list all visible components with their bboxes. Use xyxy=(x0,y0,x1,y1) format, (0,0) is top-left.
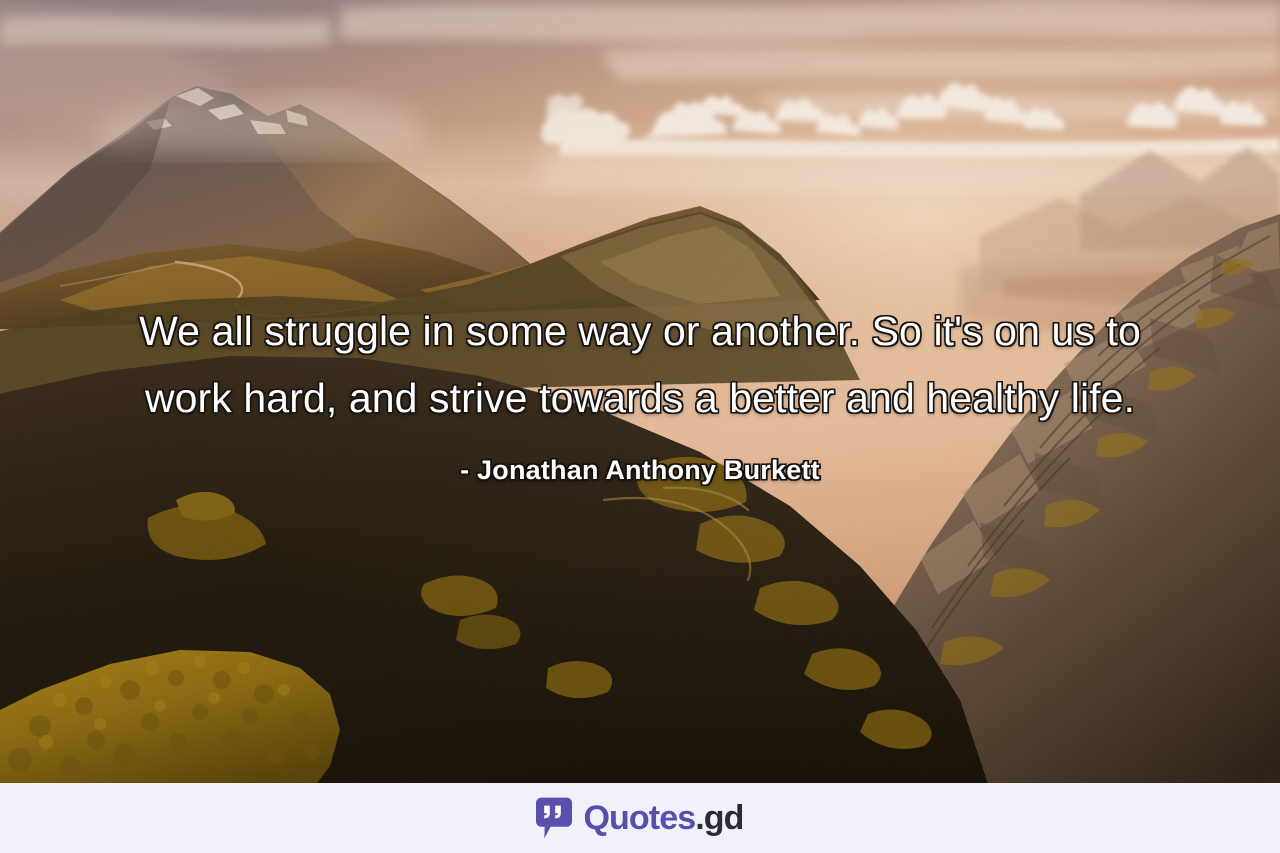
quote-text: We all struggle in some way or another. … xyxy=(118,298,1162,432)
brand-tld: .gd xyxy=(695,799,743,837)
brand-wordmark: Quotes.gd xyxy=(583,801,743,835)
quote-author: - Jonathan Anthony Burkett xyxy=(118,453,1162,487)
brand-logo-link[interactable]: Quotes.gd xyxy=(536,797,743,839)
quote-block: We all struggle in some way or another. … xyxy=(0,298,1280,487)
background-photo: We all struggle in some way or another. … xyxy=(0,0,1280,783)
brand-name: Quotes xyxy=(583,799,695,837)
quote-card: We all struggle in some way or another. … xyxy=(0,0,1280,853)
footer-bar: Quotes.gd xyxy=(0,783,1280,853)
quotes-speech-bubble-icon xyxy=(536,797,572,839)
